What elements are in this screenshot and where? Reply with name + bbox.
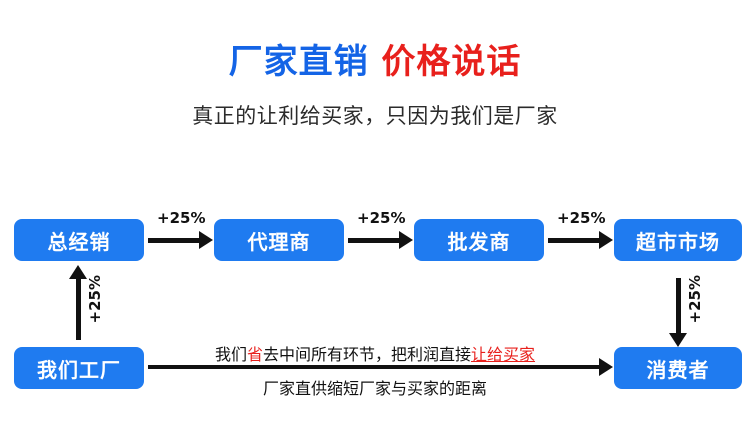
bottom-caption-highlight-save: 省 — [247, 345, 263, 364]
bottom-caption-primary: 我们省去中间所有环节，把利润直接让给买家 — [0, 341, 750, 365]
bottom-caption-part1: 我们 — [215, 345, 247, 364]
arrow-wholesaler-to-supermarket — [548, 238, 600, 243]
arrow-supermarket-to-consumer — [676, 278, 681, 334]
arrow-distributor-to-agent — [148, 238, 200, 243]
arrow-factory-to-consumer — [148, 365, 600, 369]
bottom-caption-secondary: 厂家直供缩短厂家与买家的距离 — [0, 375, 750, 399]
arrow-factory-to-distributor — [76, 278, 81, 340]
title-red-text: 价格说话 — [381, 42, 521, 82]
page-subtitle: 真正的让利给买家，只因为我们是厂家 — [0, 100, 750, 130]
infographic-canvas: 厂家直销 价格说话 真正的让利给买家，只因为我们是厂家 总经销 代理商 批发商 … — [0, 0, 750, 442]
bottom-caption-part2: 去中间所有环节，把利润直接 — [263, 345, 471, 364]
node-supermarket: 超市市场 — [614, 219, 742, 261]
markup-label-step3: +25% — [557, 209, 605, 227]
markup-label-step1: +25% — [157, 209, 205, 227]
arrow-agent-to-wholesaler — [348, 238, 400, 243]
markup-label-market-to-consumer: +25% — [686, 275, 704, 323]
title-blue-text: 厂家直销 — [229, 42, 369, 82]
markup-label-step2: +25% — [357, 209, 405, 227]
bottom-caption-highlight-give: 让给买家 — [471, 345, 535, 364]
node-general-distributor: 总经销 — [14, 219, 144, 261]
page-title: 厂家直销 价格说话 — [0, 44, 750, 81]
node-wholesaler: 批发商 — [414, 219, 544, 261]
node-agent: 代理商 — [214, 219, 344, 261]
markup-label-factory-to-distributor: +25% — [86, 275, 104, 323]
